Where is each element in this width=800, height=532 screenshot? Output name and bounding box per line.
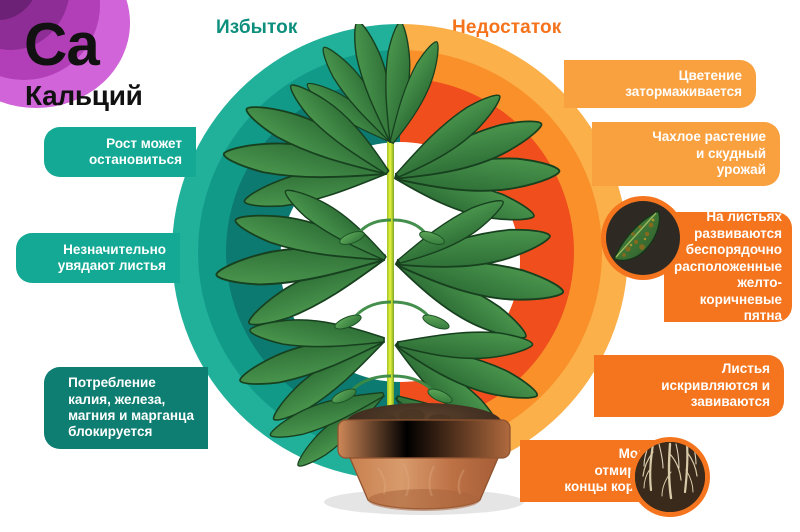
label-growth-stop-text: Рост может остановиться [89,136,182,169]
label-nutrient-block[interactable]: Потребление калия, железа, магния и марг… [44,367,208,449]
infographic-canvas: Ca Кальций Избыток Недостаток [0,0,800,532]
plant-stem [387,114,394,436]
roots-icon [635,442,705,512]
label-nutrient-block-text: Потребление калия, железа, магния и марг… [68,375,194,441]
label-stunted-plant[interactable]: Чахлое растение и скудный урожай [592,122,780,186]
spotted-leaf-bubble[interactable] [601,196,685,280]
label-growth-stop[interactable]: Рост может остановиться [44,127,196,177]
element-name: Кальций [25,80,143,112]
label-leaves-wilt-text: Незначительно увядают листья [58,242,166,275]
leaf-cluster-mid-right [388,191,566,349]
leaf-cluster-mid-left [214,182,393,337]
label-stunted-plant-text: Чахлое растение и скудный урожай [652,129,766,178]
element-symbol: Ca [24,16,99,73]
label-leaves-wilt[interactable]: Незначительно увядают листья [16,233,180,283]
label-flowering-slow[interactable]: Цветение затормаживается [564,60,756,108]
dying-roots-bubble[interactable] [630,437,710,517]
spotted-leaf-icon [606,201,680,275]
dying-roots-bubble-inner [635,442,705,512]
pot-rim [338,420,510,458]
label-leaves-curl-text: Листья искривляются и завиваются [661,361,770,410]
label-flowering-slow-text: Цветение затормаживается [625,68,742,101]
spotted-leaf-bubble-inner [606,201,680,275]
label-leaves-curl[interactable]: Листья искривляются и завиваются [594,355,784,417]
label-brown-spots-text: На листьях развиваются беспорядочно расп… [674,209,782,324]
